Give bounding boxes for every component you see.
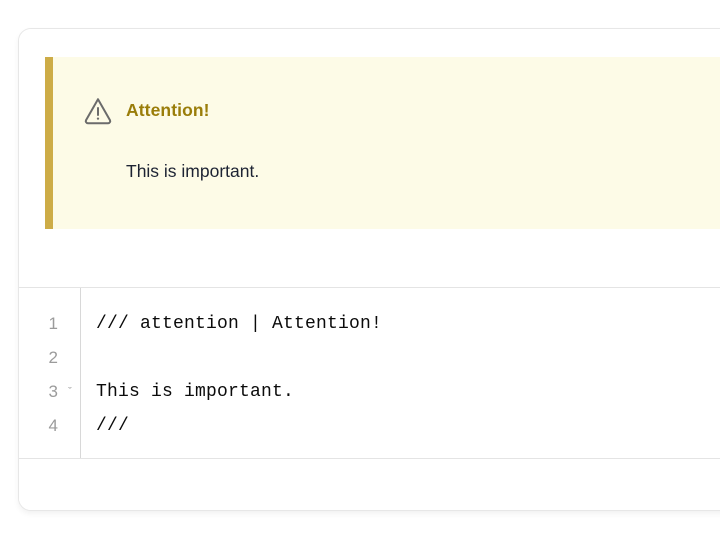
code-line[interactable]: [96, 341, 720, 375]
gutter-row: 1: [19, 307, 80, 341]
code-text-area[interactable]: /// attention | Attention! This is impor…: [81, 288, 720, 458]
callout-header: Attention!: [83, 95, 210, 125]
callout-title: Attention!: [126, 100, 210, 121]
line-number-gutter: 1 2 3 ˇ 4: [19, 288, 81, 458]
line-number: 2: [49, 341, 58, 375]
preview-pane: Attention! This is important.: [19, 29, 720, 288]
line-number: 3: [49, 375, 58, 409]
attention-callout: Attention! This is important.: [45, 57, 720, 229]
code-line[interactable]: This is important.: [96, 375, 720, 409]
page-root: Attention! This is important. 1 2: [0, 0, 720, 544]
warning-triangle-icon: [83, 95, 113, 125]
preview-card: Attention! This is important. 1 2: [18, 28, 720, 511]
line-number: 1: [49, 307, 58, 341]
code-line[interactable]: /// attention | Attention!: [96, 307, 720, 341]
editor-footer: [19, 459, 720, 511]
gutter-row: 3 ˇ: [19, 375, 80, 409]
gutter-row: 4: [19, 409, 80, 443]
code-editor-body: 1 2 3 ˇ 4: [19, 288, 720, 459]
line-number: 4: [49, 409, 58, 443]
callout-body-text: This is important.: [126, 161, 259, 182]
code-line[interactable]: ///: [96, 409, 720, 443]
code-editor: 1 2 3 ˇ 4: [19, 288, 720, 511]
gutter-row: 2: [19, 341, 80, 375]
chevron-down-icon[interactable]: ˇ: [64, 375, 76, 409]
